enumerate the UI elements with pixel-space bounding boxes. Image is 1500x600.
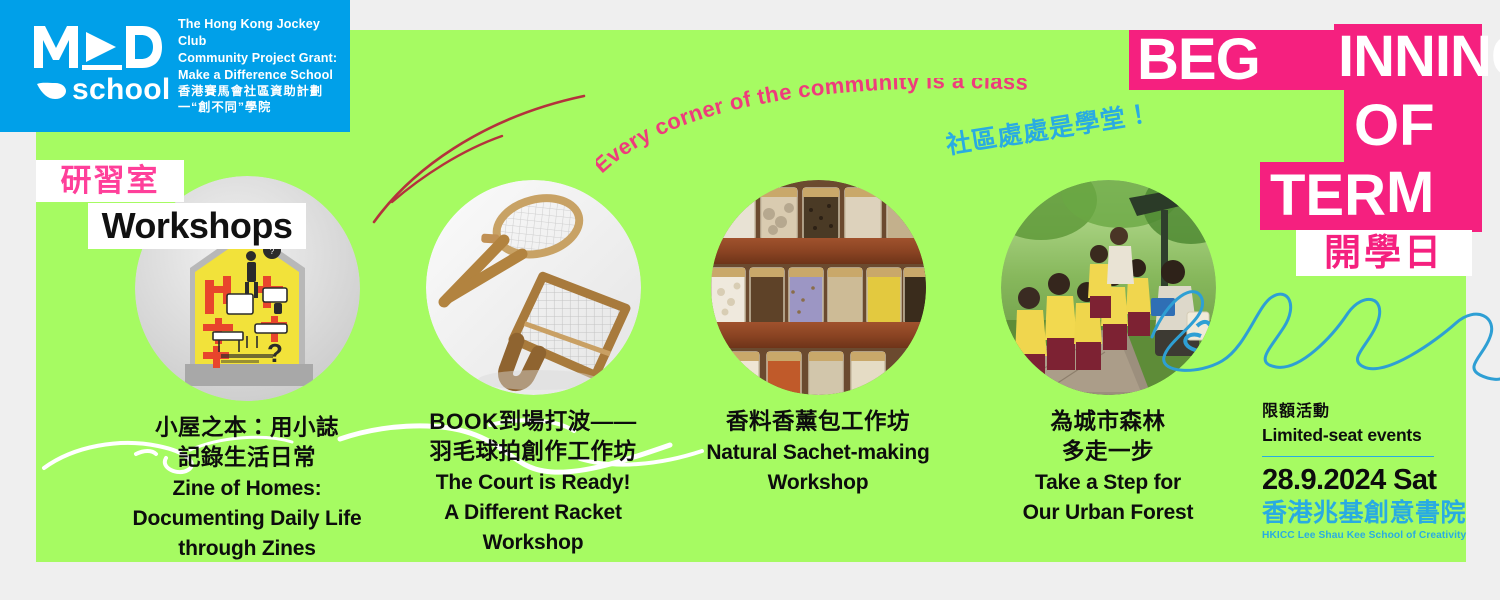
wooden-rackets-image: [426, 180, 641, 395]
workshop-title-sachet: 香料香薰包工作坊 Natural Sachet-making Workshop: [668, 407, 968, 497]
workshop-title-racket: BOOK到場打波—— 羽毛球拍創作工作坊 The Court is Ready!…: [368, 407, 698, 556]
fish-icon: [36, 80, 66, 100]
workshop-title-en-2: Workshop: [668, 470, 968, 497]
workshop-title-zh-1: 為城市森林: [958, 407, 1258, 437]
workshop-photo-racket: [426, 180, 641, 395]
mad-school-logo-block: school The Hong Kong Jockey Club Communi…: [0, 0, 350, 132]
workshop-title-zh-2: 多走一步: [958, 437, 1258, 467]
workshop-card-natural-sachet[interactable]: 香料香薰包工作坊 Natural Sachet-making Workshop: [668, 180, 968, 497]
workshop-title-en-1: Natural Sachet-making: [668, 440, 968, 467]
headline-line1-b: INNING: [1334, 24, 1482, 90]
logo-caption-en-3: Make a Difference School: [178, 67, 350, 84]
logo-caption-zh-1: 香港賽馬會社區資助計劃: [178, 83, 350, 99]
limited-seat-en: Limited-seat events: [1262, 424, 1462, 447]
spice-jars-shelf-image: [711, 180, 926, 395]
event-date: 28.9.2024 Sat: [1262, 464, 1462, 496]
headline-chinese: 開學日: [1296, 230, 1472, 276]
logo-caption-en-2: Community Project Grant:: [178, 50, 350, 67]
workshop-card-different-racket[interactable]: BOOK到場打波—— 羽毛球拍創作工作坊 The Court is Ready!…: [368, 180, 698, 556]
limited-seat-zh: 限額活動: [1262, 402, 1462, 423]
workshop-title-en-1: Take a Step for: [958, 470, 1258, 497]
workshop-title-zh-1: BOOK到場打波——: [368, 407, 698, 437]
logo-caption: The Hong Kong Jockey Club Community Proj…: [178, 16, 350, 115]
workshop-title-urban-forest: 為城市森林 多走一步 Take a Step for Our Urban For…: [958, 407, 1258, 527]
venue-name-english: HKICC Lee Shau Kee School of Creativity: [1262, 530, 1462, 542]
workshop-title-en-1: The Court is Ready!: [368, 470, 698, 497]
workshop-photo-spices: [711, 180, 926, 395]
headline-line3-b: M: [1386, 154, 1482, 232]
section-label-chinese: 研習室: [36, 160, 184, 202]
workshop-title-zh-1: 香料香薰包工作坊: [668, 407, 968, 437]
venue-name-chinese: 香港兆基創意書院: [1262, 499, 1462, 529]
limited-seat-notice: 限額活動 Limited-seat events: [1262, 402, 1462, 447]
section-label-english: Workshops: [88, 203, 306, 249]
beginning-of-term-headline: BEG INNING OF TER M 開學日: [1116, 24, 1488, 276]
headline-line2: OF: [1344, 90, 1482, 162]
workshop-title-zh-2: 羽毛球拍創作工作坊: [368, 437, 698, 467]
logo-school-text: school: [72, 75, 170, 105]
poster-root: school The Hong Kong Jockey Club Communi…: [0, 0, 1500, 600]
logo-school-row: school: [36, 68, 166, 112]
logo-caption-zh-2: 一“創不同”學院: [178, 99, 350, 115]
svg-text:?: ?: [267, 338, 283, 368]
info-divider: [1262, 456, 1434, 458]
logo-caption-en-1: The Hong Kong Jockey Club: [178, 16, 350, 49]
mad-wordmark-icon: [32, 22, 162, 70]
workshop-title-en-3: Workshop: [368, 530, 698, 557]
mad-school-logo-mark: school: [32, 20, 162, 112]
workshop-title-en-2: Our Urban Forest: [958, 500, 1258, 527]
workshop-title-en-2: A Different Racket: [368, 500, 698, 527]
event-info-block: 限額活動 Limited-seat events 28.9.2024 Sat 香…: [1262, 402, 1462, 542]
